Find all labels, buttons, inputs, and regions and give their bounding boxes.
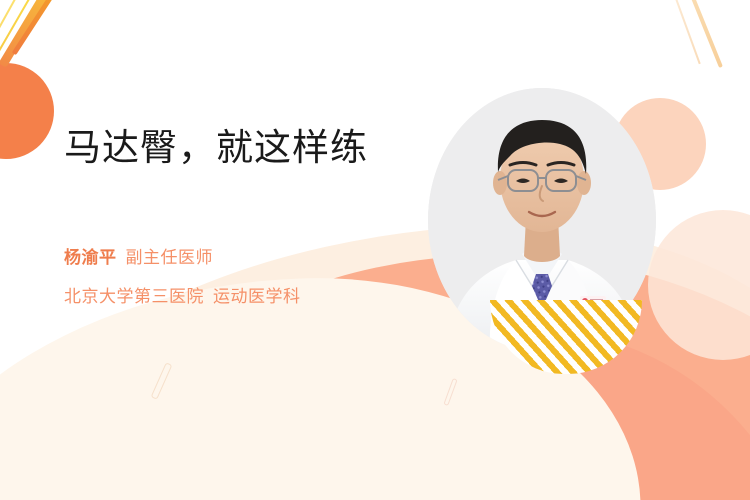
diagonal-stripes-icon-tl-2 [0,0,60,68]
peach-circle-icon-faint [648,210,750,360]
striped-half-circle-icon [490,300,642,374]
hairline-diagonal-icon-1 [151,362,173,400]
course-title-card: 马达臀，就这样练 杨渝平副主任医师 北京大学第三医院运动医学科 [0,0,750,500]
diagonal-stripes-icon-tl-4 [0,0,32,55]
page-title: 马达臀，就这样练 [64,117,368,171]
speaker-department: 运动医学科 [213,287,301,306]
speaker-rank: 副主任医师 [126,248,214,267]
hairline-diagonal-icon-2 [443,378,457,406]
speaker-hospital: 北京大学第三医院 [64,287,204,306]
speaker-byline: 杨渝平副主任医师 [64,249,213,266]
diagonal-stripes-icon-tl-3 [0,0,42,78]
speaker-affiliation: 北京大学第三医院运动医学科 [64,288,301,305]
orange-circle-icon [0,63,54,159]
diagonal-stripes-icon-tr-1 [678,0,723,68]
diagonal-stripes-icon-tr-2 [666,0,701,64]
diagonal-stripes-icon-tl-1 [12,0,68,55]
speaker-name: 杨渝平 [64,248,117,267]
